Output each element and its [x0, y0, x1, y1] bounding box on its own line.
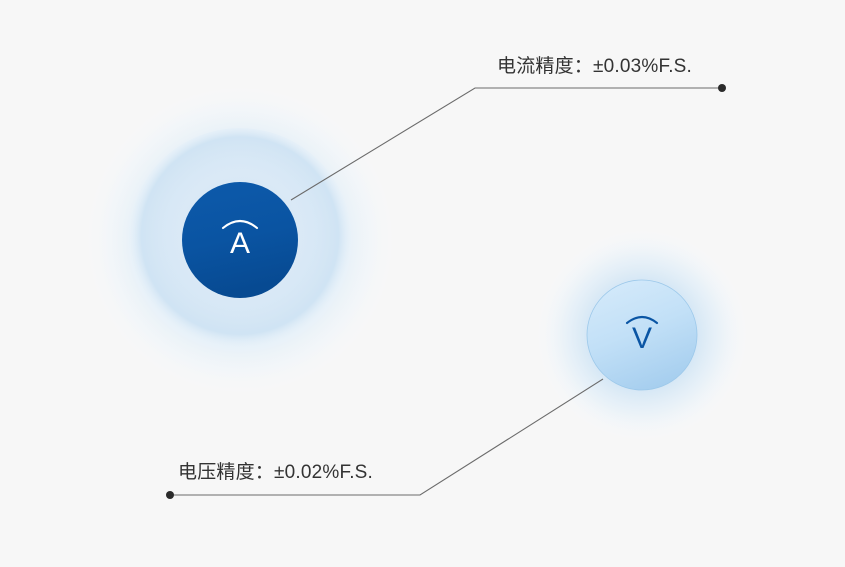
current-accuracy-leader-dot — [718, 84, 726, 92]
current-meter-node: A — [85, 85, 395, 395]
meter-accuracy-diagram: A V — [0, 0, 845, 567]
current-accuracy-label: 电流精度：±0.03%F.S. — [497, 56, 692, 79]
voltage-meter-glyph: V — [632, 322, 652, 355]
voltage-accuracy-leader-dot — [166, 491, 174, 499]
voltage-accuracy-label: 电压精度：±0.02%F.S. — [178, 462, 373, 485]
current-meter-glyph: A — [230, 227, 250, 260]
diagram-canvas: A V 电流精度：±0.03%F.S. 电压精度：±0.02%F.S. — [0, 0, 845, 567]
voltage-meter-node: V — [536, 229, 748, 441]
